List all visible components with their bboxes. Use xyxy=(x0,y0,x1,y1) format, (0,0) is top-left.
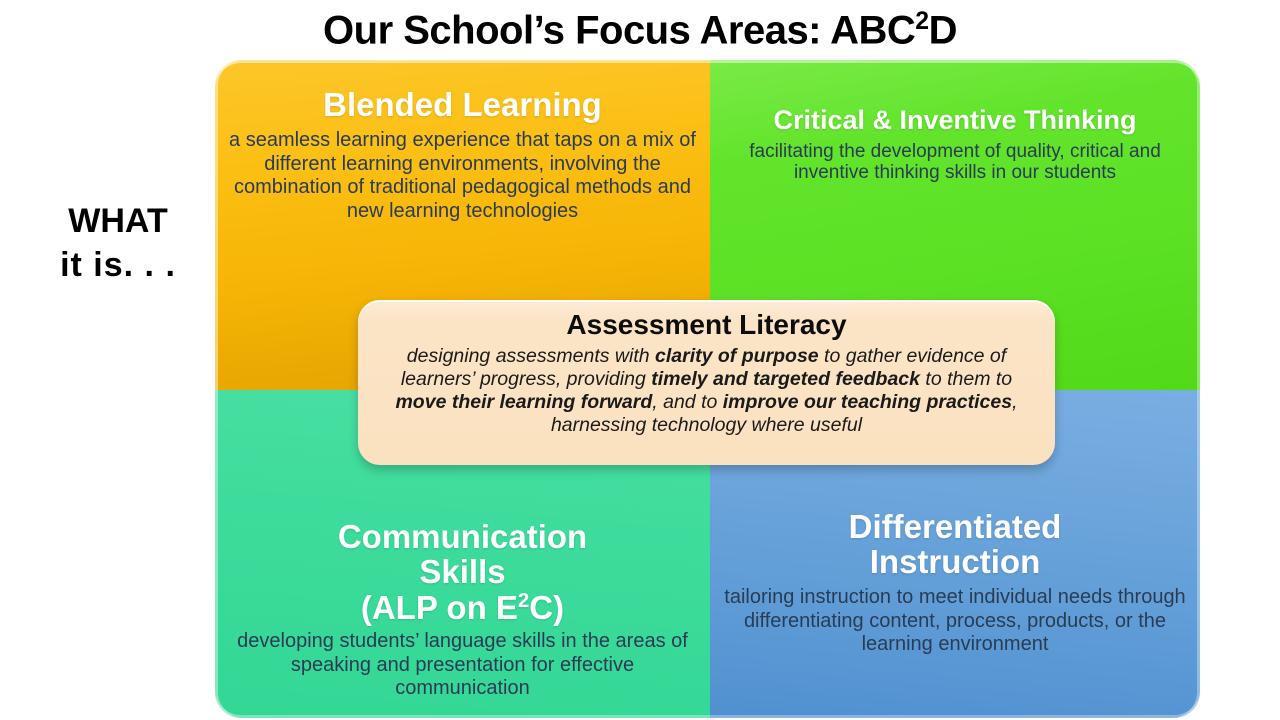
assessment-literacy-callout[interactable]: Assessment Literacy designing assessment… xyxy=(358,300,1055,465)
alp-superscript: 2 xyxy=(518,589,529,612)
quadrant-differentiated-heading-line1: Differentiated xyxy=(724,510,1186,545)
callout-run-0: designing assessments with xyxy=(407,345,655,367)
callout-run-3: timely and targeted feedback xyxy=(651,368,920,390)
callout-run-5: move their learning forward xyxy=(395,391,652,413)
quadrant-blended-body: a seamless learning experience that taps… xyxy=(229,129,696,223)
quadrant-communication-heading-line1: Communication xyxy=(229,520,696,555)
callout-run-6: , and to xyxy=(652,391,722,413)
callout-body: designing assessments with clarity of pu… xyxy=(374,345,1039,437)
what-label-line2: it is. . . xyxy=(28,244,208,288)
page-title-suffix: D xyxy=(929,8,957,52)
what-it-is-label: WHAT it is. . . xyxy=(28,200,208,287)
callout-run-1: clarity of purpose xyxy=(655,345,819,367)
quadrant-differentiated-heading-line2: Instruction xyxy=(724,545,1186,580)
callout-title: Assessment Literacy xyxy=(374,310,1039,341)
callout-run-7: improve our teaching practices xyxy=(723,391,1012,413)
quadrant-communication-heading-line3: (ALP on E2C) xyxy=(229,590,696,626)
quadrant-differentiated-heading: Differentiated Instruction xyxy=(724,510,1186,580)
page-title: Our School’s Focus Areas: ABC2D xyxy=(0,8,1280,53)
quadrant-communication-body: developing students’ language skills in … xyxy=(229,630,696,701)
quadrant-communication-heading-line2: Skills xyxy=(229,555,696,590)
callout-run-4: to them to xyxy=(920,368,1012,390)
alp-prefix: (ALP on E xyxy=(361,589,518,626)
quadrant-critical-body: facilitating the development of quality,… xyxy=(724,141,1186,184)
quadrant-blended-heading: Blended Learning xyxy=(229,88,696,123)
what-label-line1: WHAT xyxy=(28,200,208,244)
page-title-text: Our School’s Focus Areas: ABC xyxy=(323,8,915,52)
quadrant-critical-heading: Critical & Inventive Thinking xyxy=(724,106,1186,135)
quadrant-communication-heading: Communication Skills (ALP on E2C) xyxy=(229,520,696,626)
alp-suffix: C) xyxy=(529,589,564,626)
slide-canvas: Our School’s Focus Areas: ABC2D WHAT it … xyxy=(0,0,1280,720)
quadrant-differentiated-body: tailoring instruction to meet individual… xyxy=(724,586,1186,657)
page-title-superscript: 2 xyxy=(915,8,928,35)
